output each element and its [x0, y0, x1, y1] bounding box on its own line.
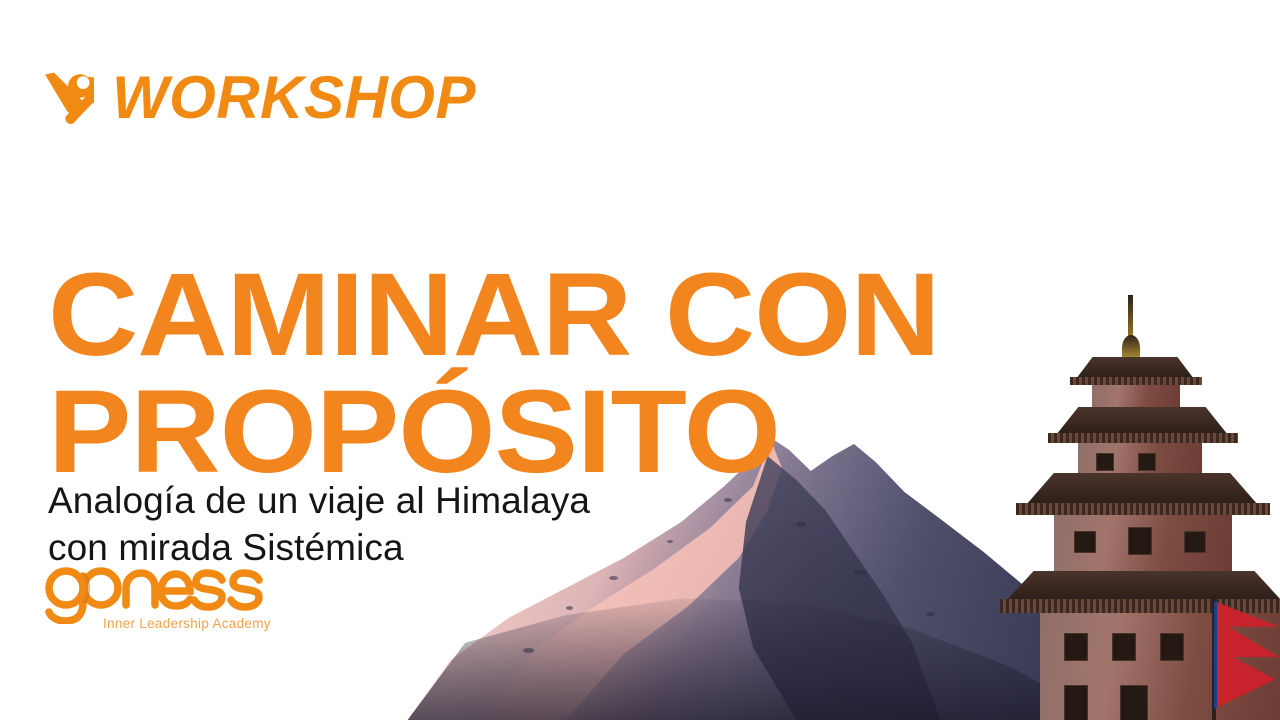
headline-line-2: PROPÓSITO [48, 374, 1023, 491]
subtitle: Analogía de un viaje al Himalaya con mir… [48, 477, 728, 572]
content-layer: WORKSHOP CAMINAR CON PROPÓSITO Analogía … [0, 0, 1280, 720]
workshop-slide: WORKSHOP CAMINAR CON PROPÓSITO Analogía … [0, 0, 1280, 720]
tools-icon [36, 69, 94, 127]
brand-logo: Inner Leadership Academy [40, 562, 280, 642]
kicker: WORKSHOP [36, 68, 476, 128]
headline-line-1: CAMINAR CON [48, 257, 1023, 374]
kicker-label: WORKSHOP [112, 68, 476, 128]
page-title: CAMINAR CON PROPÓSITO [48, 257, 1023, 491]
goness-wordmark [40, 562, 280, 624]
logo-tagline: Inner Leadership Academy [103, 616, 271, 631]
subtitle-line-1: Analogía de un viaje al Himalaya [48, 477, 728, 524]
